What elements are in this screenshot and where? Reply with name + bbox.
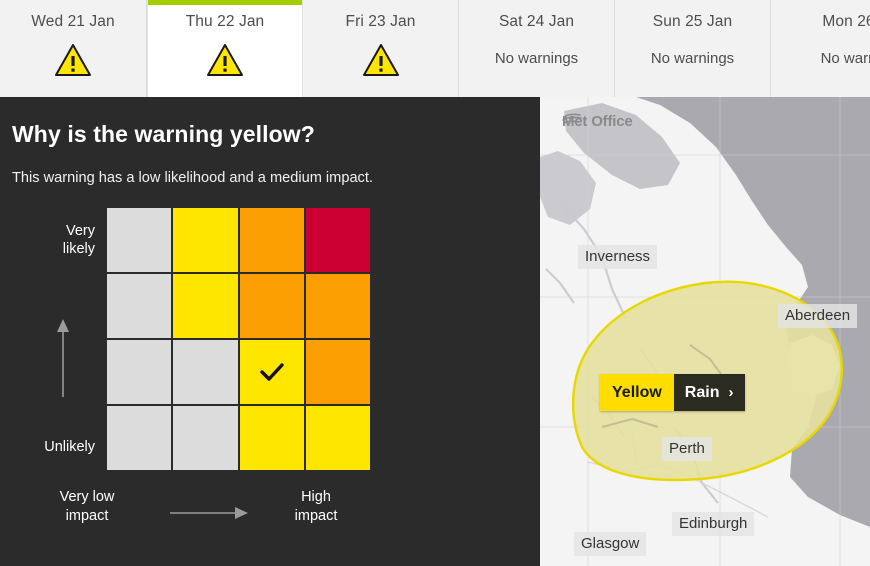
day-tab-status: No warn (821, 50, 870, 67)
map-label-glasgow: Glasgow (574, 532, 646, 556)
impact-axis: Very low impact High impact (10, 478, 410, 528)
day-tab-0[interactable]: Wed 21 Jan (0, 0, 147, 97)
map-label-edinburgh: Edinburgh (672, 512, 754, 536)
warning-triangle-icon (362, 43, 400, 77)
day-tab-date: Thu 22 Jan (186, 13, 265, 31)
day-tab-strip: Wed 21 JanThu 22 JanFri 23 JanSat 24 Jan… (0, 0, 870, 97)
day-tab-4[interactable]: Sun 25 JanNo warnings (615, 0, 771, 97)
impact-axis-low-label: Very low impact (33, 488, 141, 526)
day-tab-date: Wed 21 Jan (31, 13, 114, 31)
risk-matrix: Very likely Unlikely Very low impact Hig… (10, 206, 410, 506)
warning-badge-level: Yellow (600, 374, 674, 411)
day-tab-5[interactable]: Mon 26No warn (771, 0, 870, 97)
day-tab-3[interactable]: Sat 24 JanNo warnings (459, 0, 615, 97)
matrix-cell-r0-c1 (173, 208, 237, 272)
day-tab-date: Mon 26 (822, 13, 870, 31)
matrix-cell-r2-c3 (306, 340, 370, 404)
impact-high-line2: impact (295, 508, 338, 524)
weather-warning-screen: Wed 21 JanThu 22 JanFri 23 JanSat 24 Jan… (0, 0, 870, 566)
met-office-swoosh-icon (562, 113, 584, 127)
matrix-cell-r3-c2 (240, 406, 304, 470)
day-tab-2[interactable]: Fri 23 Jan (303, 0, 459, 97)
day-tab-status: No warnings (495, 50, 578, 67)
warning-explainer-panel: Why is the warning yellow? This warning … (0, 97, 540, 566)
day-tab-date: Sun 25 Jan (653, 13, 732, 31)
map-label-perth: Perth (662, 437, 712, 461)
impact-axis-high-label: High impact (262, 488, 370, 526)
likelihood-axis-high-label: Very likely (10, 222, 95, 258)
warning-badge-type: Rain › (674, 374, 746, 411)
matrix-cell-r0-c3 (306, 208, 370, 272)
map-graphic (540, 97, 870, 566)
impact-low-line1: Very low (60, 489, 115, 505)
matrix-cell-r3-c0 (107, 406, 171, 470)
matrix-cell-r2-c1 (173, 340, 237, 404)
warning-triangle-icon (206, 43, 244, 77)
chevron-right-icon: › (728, 384, 733, 401)
day-tab-date: Sat 24 Jan (499, 13, 574, 31)
matrix-cell-r3-c1 (173, 406, 237, 470)
likelihood-arrow-icon (56, 319, 70, 397)
matrix-cell-r3-c3 (306, 406, 370, 470)
day-tab-status: No warnings (651, 50, 734, 67)
matrix-cell-r1-c3 (306, 274, 370, 338)
likelihood-axis: Very likely Unlikely (10, 206, 95, 470)
map-label-inverness: Inverness (578, 245, 657, 269)
matrix-cell-r1-c2 (240, 274, 304, 338)
likelihood-axis-low-label: Unlikely (10, 438, 95, 456)
impact-high-line1: High (301, 489, 331, 505)
map-label-aberdeen: Aberdeen (778, 304, 857, 328)
day-tab-date: Fri 23 Jan (346, 13, 416, 31)
risk-matrix-grid (107, 208, 370, 470)
impact-arrow-icon (170, 506, 248, 520)
warning-triangle-icon (54, 43, 92, 77)
warning-summary-text: This warning has a low likelihood and a … (10, 170, 540, 186)
check-icon (259, 361, 285, 383)
matrix-cell-r1-c0 (107, 274, 171, 338)
warning-badge-type-label: Rain (685, 384, 720, 402)
page-title: Why is the warning yellow? (10, 121, 540, 148)
met-office-logo: Met Office (562, 113, 633, 130)
matrix-cell-r0-c0 (107, 208, 171, 272)
likelihood-high-line2: likely (63, 241, 95, 257)
impact-low-line2: impact (66, 508, 109, 524)
matrix-cell-r2-c2 (240, 340, 304, 404)
day-tab-1[interactable]: Thu 22 Jan (147, 0, 303, 97)
likelihood-high-line1: Very (66, 223, 95, 239)
warning-map[interactable]: Met Office InvernessAberdeenPerthEdinbur… (540, 97, 870, 566)
warning-badge[interactable]: Yellow Rain › (600, 374, 745, 411)
matrix-cell-r0-c2 (240, 208, 304, 272)
matrix-cell-r2-c0 (107, 340, 171, 404)
matrix-cell-r1-c1 (173, 274, 237, 338)
